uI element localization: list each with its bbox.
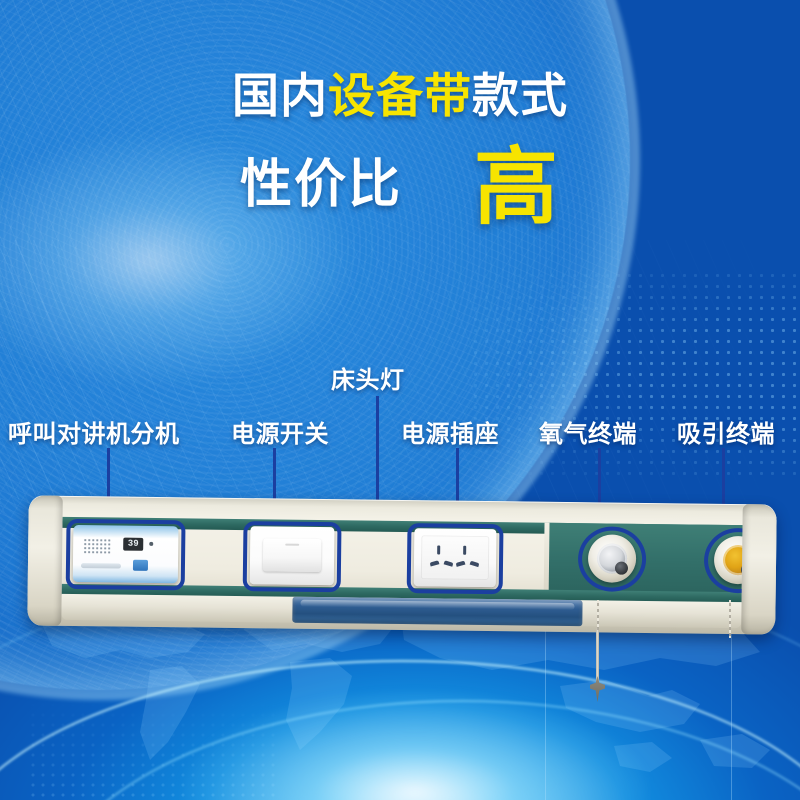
oxygen-terminal-tether [597, 600, 599, 630]
headline-seg-value-ratio: 性价比 [240, 156, 402, 214]
callout-label-oxygen-terminal: 氧气终端 [539, 414, 637, 449]
bedside-lamp-diffuser[interactable] [292, 597, 582, 627]
highlight-nurse-call [66, 519, 186, 590]
headline-seg-domestic: 国内 [232, 69, 328, 122]
suction-terminal-tether [729, 600, 731, 638]
panel-end-cap-left [27, 495, 63, 625]
horizon-glow [180, 690, 650, 800]
headline-seg-high: 高 [474, 140, 560, 234]
callout-label-power-switch: 电源开关 [231, 414, 329, 449]
headline-line-1: 国内设备带款式 [0, 72, 800, 119]
callout-label-suction-terminal: 吸引终端 [677, 414, 775, 449]
callout-label-nurse-call: 呼叫对讲机分机 [8, 414, 180, 449]
headline-block: 国内设备带款式 性价比高 [0, 72, 800, 229]
callout-label-power-outlet: 电源插座 [401, 414, 499, 449]
highlight-power-switch [243, 521, 342, 592]
medical-equipment-panel: 39 [27, 495, 777, 634]
callout-label-bedside-lamp: 床头灯 [331, 360, 405, 395]
headline-seg-style: 款式 [472, 69, 568, 122]
highlight-power-outlet [407, 523, 504, 594]
headline-seg-equipment-belt: 设备带 [328, 69, 472, 122]
panel-end-cap-right [741, 504, 777, 634]
headline-line-2: 性价比高 [0, 145, 800, 229]
lamp-gloss [300, 600, 574, 610]
promo-banner: 国内设备带款式 性价比高 呼叫对讲机分机 电源开关 床头灯 电源插座 氧气终端 … [0, 0, 800, 800]
